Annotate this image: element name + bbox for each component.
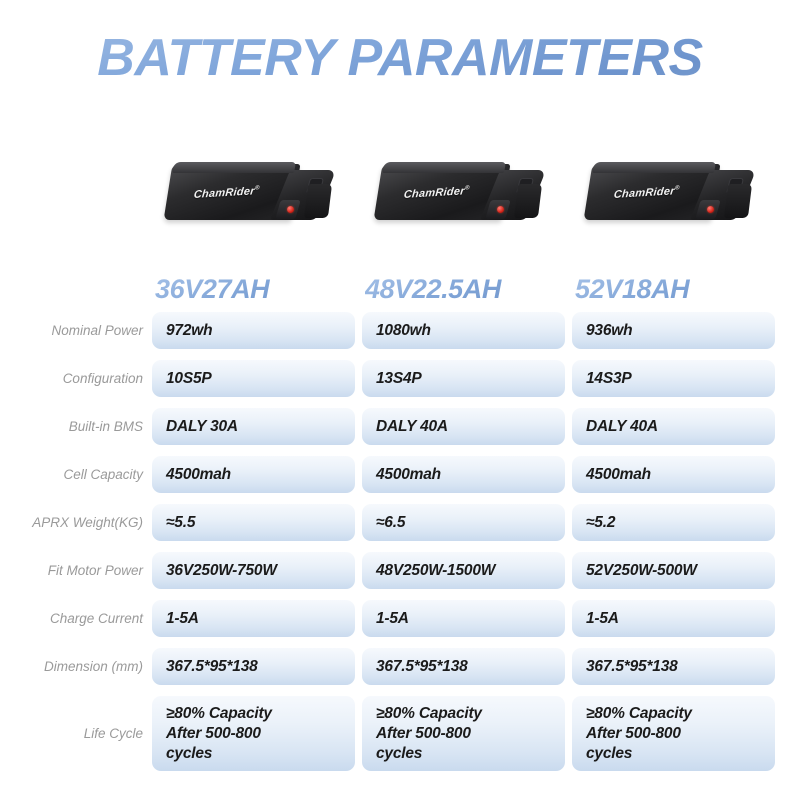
product-image-52v18ah: ChamRider® xyxy=(570,142,780,252)
battery-end-cap xyxy=(724,184,752,218)
table-cell: 972wh xyxy=(152,312,355,349)
table-cell: 1-5A xyxy=(362,600,565,637)
battery-top-face xyxy=(382,162,506,173)
table-row: Charge Current 1-5A 1-5A 1-5A xyxy=(0,600,800,648)
cell-value: DALY 40A xyxy=(586,417,658,437)
table-cell: 367.5*95*138 xyxy=(572,648,775,685)
cell-value: 52V250W-500W xyxy=(586,561,697,581)
column-header-row: 36V27AH 48V22.5AH 52V18AH xyxy=(150,272,780,306)
table-cell: 1080wh xyxy=(362,312,565,349)
row-label-built-in-bms: Built-in BMS xyxy=(10,408,143,445)
column-header-52v18ah: 52V18AH xyxy=(575,272,785,306)
row-label-charge-current: Charge Current xyxy=(10,600,143,637)
table-cell: 4500mah xyxy=(152,456,355,493)
cell-value: ≈6.5 xyxy=(376,513,405,533)
row-label-nominal-power: Nominal Power xyxy=(10,312,143,349)
cell-value: DALY 30A xyxy=(166,417,238,437)
cell-value: ≥80% Capacity After 500-800 cycles xyxy=(376,704,482,764)
cell-value: 36V250W-750W xyxy=(166,561,277,581)
battery-illustration: ChamRider® xyxy=(378,156,553,228)
cell-value: 367.5*95*138 xyxy=(376,657,468,677)
brand-registered-mark: ® xyxy=(465,185,470,191)
product-image-36v27ah: ChamRider® xyxy=(150,142,360,252)
table-row: Life Cycle ≥80% Capacity After 500-800 c… xyxy=(0,696,800,782)
spec-table: Nominal Power 972wh 1080wh 936wh Configu… xyxy=(0,312,800,782)
row-label-configuration: Configuration xyxy=(10,360,143,397)
cell-value: 367.5*95*138 xyxy=(166,657,258,677)
battery-top-face xyxy=(592,162,716,173)
cell-value: ≥80% Capacity After 500-800 cycles xyxy=(166,704,272,764)
battery-end-cap xyxy=(514,184,542,218)
cell-value: 1080wh xyxy=(376,321,431,341)
cell-value: ≥80% Capacity After 500-800 cycles xyxy=(586,704,692,764)
table-row: Fit Motor Power 36V250W-750W 48V250W-150… xyxy=(0,552,800,600)
table-cell: DALY 30A xyxy=(152,408,355,445)
table-cell: ≥80% Capacity After 500-800 cycles xyxy=(572,696,775,771)
row-label-fit-motor-power: Fit Motor Power xyxy=(10,552,143,589)
table-cell: DALY 40A xyxy=(572,408,775,445)
product-image-48v22-5ah: ChamRider® xyxy=(360,142,570,252)
table-row: Configuration 10S5P 13S4P 14S3P xyxy=(0,360,800,408)
table-cell: 936wh xyxy=(572,312,775,349)
cell-value: 48V250W-1500W xyxy=(376,561,495,581)
table-row: Dimension (mm) 367.5*95*138 367.5*95*138… xyxy=(0,648,800,696)
cell-value: 10S5P xyxy=(166,369,212,389)
cell-value: ≈5.5 xyxy=(166,513,195,533)
cell-value: 936wh xyxy=(586,321,632,341)
table-cell: 4500mah xyxy=(572,456,775,493)
battery-led-icon xyxy=(497,206,504,213)
row-label-life-cycle: Life Cycle xyxy=(10,696,143,771)
battery-illustration: ChamRider® xyxy=(588,156,763,228)
cell-value: 4500mah xyxy=(166,465,231,485)
page-title: BATTERY PARAMETERS xyxy=(0,28,800,88)
battery-led-icon xyxy=(707,206,714,213)
table-cell: 48V250W-1500W xyxy=(362,552,565,589)
row-label-cell-capacity: Cell Capacity xyxy=(10,456,143,493)
cell-value: 972wh xyxy=(166,321,212,341)
cell-value: 1-5A xyxy=(376,609,409,629)
column-header-36v27ah: 36V27AH xyxy=(155,272,365,306)
table-cell: 4500mah xyxy=(362,456,565,493)
table-cell: 367.5*95*138 xyxy=(152,648,355,685)
table-row: APRX Weight(KG) ≈5.5 ≈6.5 ≈5.2 xyxy=(0,504,800,552)
battery-illustration: ChamRider® xyxy=(168,156,343,228)
battery-top-face xyxy=(172,162,296,173)
row-label-dimension: Dimension (mm) xyxy=(10,648,143,685)
cell-value: 1-5A xyxy=(166,609,199,629)
table-row: Cell Capacity 4500mah 4500mah 4500mah xyxy=(0,456,800,504)
cell-value: DALY 40A xyxy=(376,417,448,437)
cell-value: 367.5*95*138 xyxy=(586,657,678,677)
table-cell: ≈5.2 xyxy=(572,504,775,541)
table-cell: 13S4P xyxy=(362,360,565,397)
table-cell: ≈6.5 xyxy=(362,504,565,541)
column-header-48v22-5ah: 48V22.5AH xyxy=(365,272,575,306)
battery-end-cap xyxy=(304,184,332,218)
cell-value: 1-5A xyxy=(586,609,619,629)
table-cell: ≥80% Capacity After 500-800 cycles xyxy=(362,696,565,771)
table-cell: 14S3P xyxy=(572,360,775,397)
table-cell: ≈5.5 xyxy=(152,504,355,541)
table-cell: 52V250W-500W xyxy=(572,552,775,589)
table-cell: 367.5*95*138 xyxy=(362,648,565,685)
cell-value: 4500mah xyxy=(376,465,441,485)
table-cell: ≥80% Capacity After 500-800 cycles xyxy=(152,696,355,771)
brand-registered-mark: ® xyxy=(675,185,680,191)
cell-value: 14S3P xyxy=(586,369,632,389)
table-row: Nominal Power 972wh 1080wh 936wh xyxy=(0,312,800,360)
cell-value: 4500mah xyxy=(586,465,651,485)
table-cell: 1-5A xyxy=(572,600,775,637)
cell-value: ≈5.2 xyxy=(586,513,615,533)
table-cell: 1-5A xyxy=(152,600,355,637)
row-label-aprx-weight: APRX Weight(KG) xyxy=(10,504,143,541)
table-cell: DALY 40A xyxy=(362,408,565,445)
table-row: Built-in BMS DALY 30A DALY 40A DALY 40A xyxy=(0,408,800,456)
table-cell: 36V250W-750W xyxy=(152,552,355,589)
brand-registered-mark: ® xyxy=(255,185,260,191)
battery-led-icon xyxy=(287,206,294,213)
cell-value: 13S4P xyxy=(376,369,422,389)
product-image-row: ChamRider® ChamRider® ChamRider® xyxy=(150,142,780,252)
table-cell: 10S5P xyxy=(152,360,355,397)
